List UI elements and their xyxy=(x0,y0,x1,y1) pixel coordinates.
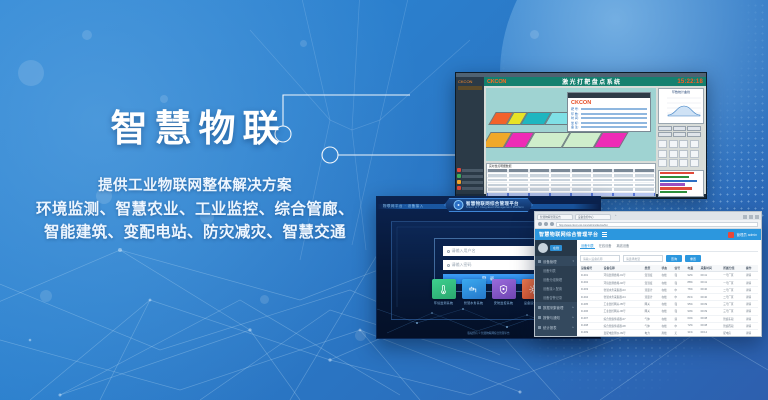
user-icon xyxy=(538,336,541,338)
cell-group: 三号厂区 xyxy=(722,308,745,315)
tool-icon[interactable] xyxy=(690,150,699,158)
monitor-logo: CKCON xyxy=(487,79,506,85)
cell-group: 管廊东段 xyxy=(722,315,745,322)
promotional-banner: 智慧物联 提供工业物联网整体解决方案 环境监测、智慧农业、工业监控、综合管廊、 … xyxy=(0,0,768,400)
table-row[interactable]: D-001 环境监测终端-01号 温湿度 在线 强 92% 09:41 一号厂区… xyxy=(580,272,758,279)
monitor-title: 激光打靶盘点系统 xyxy=(562,77,621,86)
hero-copy: 智慧物联 提供工业物联网整体解决方案 环境监测、智慧农业、工业监控、综合管廊、 … xyxy=(0,108,390,244)
module-tiles: 环境监测系统 智慧水务系统 xyxy=(432,279,546,305)
cell-action[interactable]: 详情 xyxy=(745,286,758,293)
sidebar-user-badge: 在线 xyxy=(550,245,562,251)
col-time: 采集时间 xyxy=(700,265,723,272)
popup-key: 坐 标: xyxy=(571,121,579,125)
cell-id: D-008 xyxy=(580,322,603,329)
cell-battery: 88% xyxy=(687,279,700,286)
log-line xyxy=(660,191,687,193)
popup-key: 时 间: xyxy=(571,116,579,120)
cell-time: 09:41 xyxy=(700,279,723,286)
bell-icon xyxy=(538,316,541,319)
cell-time: 09:39 xyxy=(700,308,723,315)
cell-id: D-007 xyxy=(580,315,603,322)
notification-icon[interactable] xyxy=(728,232,734,238)
cell-id: D-009 xyxy=(580,329,603,336)
user-icon xyxy=(447,250,450,253)
cell-group: 管廊西段 xyxy=(722,322,745,329)
filter-bar: 请输入设备名称 请选择类型 查询 重置 xyxy=(580,255,758,262)
cell-name: 综合管廊传感器-07 xyxy=(603,315,644,322)
sidebar-group-device[interactable]: 设备管理 ▾ xyxy=(535,256,577,266)
tool-icon[interactable] xyxy=(690,140,699,148)
browser-addressbar: http://www.ckcon-iot.com/admin/device/li… xyxy=(535,220,761,229)
shield-icon xyxy=(498,284,509,295)
cell-group: 配电房 xyxy=(722,329,745,336)
bokeh-dot xyxy=(530,30,539,39)
sidebar-group-label: 报警与通知 xyxy=(543,315,560,320)
username-field[interactable]: 请输入用户名 xyxy=(443,246,535,256)
table-row[interactable]: D-004 智慧水务采集器-04 流量计 在线 中 81% 09:40 二号厂区… xyxy=(580,293,758,300)
chevron-right-icon: ▸ xyxy=(572,315,574,319)
hero-subtitle-line-2: 环境监测、智慧农业、工业监控、综合管廊、 xyxy=(0,198,390,221)
cell-signal: 中 xyxy=(673,322,686,329)
icon-grid xyxy=(658,139,704,168)
cell-type: 网关 xyxy=(644,301,661,308)
popup-value xyxy=(581,126,647,128)
event-log xyxy=(658,170,704,197)
col-id: 设备编号 xyxy=(580,265,603,272)
chevron-down-icon: ▾ xyxy=(572,259,574,263)
cell-type: 温湿度 xyxy=(644,272,661,279)
monitor-sidebar-item[interactable] xyxy=(457,174,483,178)
monitor-sidebar: CKCON xyxy=(456,77,484,194)
search-button[interactable]: 查询 xyxy=(666,255,682,262)
cell-battery: 95% xyxy=(687,301,700,308)
cell-time: 09:12 xyxy=(700,329,723,336)
monitor-right-panel: 环数统计曲线 xyxy=(658,88,704,197)
tool-icon[interactable] xyxy=(679,140,688,148)
cell-status: 离线 xyxy=(660,329,673,336)
module-tile-water[interactable]: 智慧水务系统 xyxy=(462,279,486,305)
bokeh-dot xyxy=(260,295,269,304)
sidebar-group-label: 用户权限 xyxy=(543,335,557,338)
content-tabs: 设备列表 在线设备 离线设备 xyxy=(580,243,758,252)
kiosk-title-badge: 智慧物联网综合管理平台 Smart IoT Integrated Managem… xyxy=(444,198,533,212)
reset-button[interactable]: 重置 xyxy=(685,255,701,262)
cell-id: D-006 xyxy=(580,308,603,315)
cell-id: D-001 xyxy=(580,272,603,279)
monitor-sidebar-item[interactable] xyxy=(457,186,483,190)
app-sidebar: 在线 设备管理 ▾ 设备列表 设备分组管理 设备接入配置 设备告警记录 数据采集… xyxy=(535,240,577,337)
username-placeholder: 请输入用户名 xyxy=(452,248,476,254)
device-icon xyxy=(538,260,541,263)
lock-icon xyxy=(447,264,450,267)
sidebar-group-collection[interactable]: 数据采集管理 ▸ xyxy=(535,302,577,312)
chevron-right-icon: ▸ xyxy=(572,335,574,337)
table-row[interactable]: D-006 工业监控网关-06号 网关 在线 强 90% 09:39 三号厂区 … xyxy=(580,308,758,315)
monitor-sidebar-item[interactable] xyxy=(457,168,483,172)
col-group: 所属分组 xyxy=(722,265,745,272)
cell-id: D-005 xyxy=(580,301,603,308)
tool-icon[interactable] xyxy=(669,159,678,167)
popup-key: 环 数: xyxy=(571,112,579,116)
detail-popup: CKCON 靶 号: 环 数: 时 间: 坐 标: 备 注: xyxy=(567,92,651,132)
cell-battery: 72% xyxy=(687,322,700,329)
cell-group: 二号厂区 xyxy=(722,286,745,293)
cell-action[interactable]: 详情 xyxy=(745,272,758,279)
chevron-right-icon: ▸ xyxy=(572,305,574,309)
status-dot-icon xyxy=(457,186,461,190)
monitor-screenshot: CKCON xyxy=(455,72,707,199)
cell-action[interactable]: 详情 xyxy=(745,301,758,308)
sidebar-item-device-alarm[interactable]: 设备告警记录 xyxy=(535,293,577,302)
cell-action[interactable]: 详情 xyxy=(745,322,758,329)
cell-battery: 92% xyxy=(687,272,700,279)
status-dot-icon xyxy=(457,174,461,178)
tool-icon[interactable] xyxy=(658,159,667,167)
cell-type: 流量计 xyxy=(644,286,661,293)
col-battery: 电量 xyxy=(687,265,700,272)
cell-type: 电力 xyxy=(644,329,661,336)
bokeh-dot xyxy=(355,330,366,341)
monitor-data-table: 实时盘点明细数据 xyxy=(486,163,656,197)
cell-signal: 无 xyxy=(673,329,686,336)
cell-action[interactable]: 详情 xyxy=(745,315,758,322)
popup-row: 时 间: xyxy=(571,116,647,120)
cell-time: 09:41 xyxy=(700,272,723,279)
app-header: 智慧物联网综合管理平台 管理员 admin xyxy=(535,229,761,240)
cell-time: 09:39 xyxy=(700,301,723,308)
popup-key: 备 注: xyxy=(571,125,579,129)
statistics-chart: 环数统计曲线 xyxy=(658,88,704,124)
cell-battery: 90% xyxy=(687,308,700,315)
cell-status: 在线 xyxy=(660,293,673,300)
avatar xyxy=(538,243,548,253)
control-button[interactable] xyxy=(673,132,687,137)
col-action: 操作 xyxy=(745,265,758,272)
table-row[interactable]: D-003 智慧水务采集器-03 流量计 在线 中 76% 09:40 二号厂区… xyxy=(580,286,758,293)
bokeh-dot xyxy=(40,290,52,302)
control-button[interactable] xyxy=(673,126,687,131)
back-icon[interactable] xyxy=(538,222,542,226)
kiosk-badge-subtitle: Smart IoT Integrated Management Platform xyxy=(466,206,524,209)
module-tile-label: 安防监控系统 xyxy=(492,301,516,305)
cell-action[interactable]: 详情 xyxy=(745,329,758,336)
cell-name: 变配电监测仪-09号 xyxy=(603,329,644,336)
status-dot-icon xyxy=(457,180,461,184)
cell-status: 在线 xyxy=(660,272,673,279)
app-title: 智慧物联网综合管理平台 xyxy=(539,231,598,238)
cell-id: D-004 xyxy=(580,293,603,300)
cell-time: 09:40 xyxy=(700,293,723,300)
module-tile-label: 智慧水务系统 xyxy=(462,301,486,305)
cell-group: 一号厂区 xyxy=(722,279,745,286)
cell-name: 工业监控网关-05号 xyxy=(603,301,644,308)
cell-battery: 81% xyxy=(687,293,700,300)
cell-id: D-002 xyxy=(580,279,603,286)
search-input[interactable]: 请输入设备名称 xyxy=(580,255,620,262)
cell-status: 在线 xyxy=(660,301,673,308)
sidebar-item-device-list[interactable]: 设备列表 xyxy=(535,266,577,275)
hero-subtitle-line-1: 提供工业物联网整体解决方案 xyxy=(0,175,390,198)
log-line xyxy=(660,180,697,182)
cell-action[interactable]: 详情 xyxy=(745,293,758,300)
cell-signal: 弱 xyxy=(673,315,686,322)
col-signal: 信号 xyxy=(673,265,686,272)
sidebar-group-report[interactable]: 统计报表 ▸ xyxy=(535,322,577,332)
log-line xyxy=(660,172,694,174)
new-tab-button[interactable]: + xyxy=(613,214,620,220)
type-select[interactable]: 请选择类型 xyxy=(623,255,663,262)
tool-icon[interactable] xyxy=(679,150,688,158)
cell-time: 09:40 xyxy=(700,286,723,293)
tab-device-list[interactable]: 设备列表 xyxy=(580,243,595,249)
cell-status: 在线 xyxy=(660,279,673,286)
maximize-icon[interactable] xyxy=(749,215,753,219)
monitor-sidebar-tag xyxy=(458,86,482,90)
popup-value xyxy=(581,122,647,124)
col-type: 类型 xyxy=(644,265,661,272)
cell-signal: 强 xyxy=(673,301,686,308)
table-header-row: 设备编号 设备名称 类型 状态 信号 电量 采集时间 所属分组 操作 xyxy=(580,265,758,272)
gear-icon xyxy=(453,200,463,210)
browser-tab[interactable]: 智慧物联管理后台 xyxy=(537,214,573,220)
close-icon[interactable] xyxy=(755,215,759,219)
password-field[interactable]: 请输入密码 xyxy=(443,260,535,270)
cell-id: D-003 xyxy=(580,286,603,293)
cell-signal: 强 xyxy=(673,272,686,279)
module-tile-environment[interactable]: 环境监测系统 xyxy=(432,279,456,305)
monitor-clock: 15:22:18 xyxy=(677,79,703,85)
status-dot-icon xyxy=(457,168,461,172)
app-main-content: 设备列表 在线设备 离线设备 请输入设备名称 请选择类型 查询 重置 设备编号 … xyxy=(577,240,761,337)
forward-icon[interactable] xyxy=(544,222,548,226)
module-tile-label: 环境监测系统 xyxy=(432,301,456,305)
url-input[interactable]: http://www.ckcon-iot.com/admin/device/li… xyxy=(556,222,758,227)
tool-icon[interactable] xyxy=(690,159,699,167)
cell-name: 环境监测终端-02号 xyxy=(603,279,644,286)
thermometer-icon xyxy=(438,284,449,295)
cell-type: 气体 xyxy=(644,315,661,322)
sidebar-group-permission[interactable]: 用户权限 ▸ xyxy=(535,332,577,337)
tab-offline-devices[interactable]: 离线设备 xyxy=(616,243,631,249)
control-button[interactable] xyxy=(658,132,672,137)
cell-signal: 强 xyxy=(673,308,686,315)
kiosk-left-tab: 物联网平台 · 设备接入 xyxy=(383,203,424,208)
database-icon xyxy=(538,306,541,309)
cell-status: 在线 xyxy=(660,308,673,315)
log-line xyxy=(660,183,685,185)
popup-row: 备 注: xyxy=(571,125,647,129)
water-tap-icon xyxy=(468,284,479,295)
chevron-right-icon: ▸ xyxy=(572,325,574,329)
chart-icon xyxy=(538,326,541,329)
cell-action[interactable]: 详情 xyxy=(745,279,758,286)
device-table: 设备编号 设备名称 类型 状态 信号 电量 采集时间 所属分组 操作 xyxy=(580,265,758,337)
app-user-label[interactable]: 管理员 admin xyxy=(737,232,757,237)
monitor-sidebar-item[interactable] xyxy=(457,180,483,184)
page-title: 智慧物联 xyxy=(0,108,390,151)
popup-logo: CKCON xyxy=(571,100,650,106)
table-row[interactable]: D-008 综合管廊传感器-08 气体 在线 中 72% 09:38 管廊西段 … xyxy=(580,322,758,329)
password-placeholder: 请输入密码 xyxy=(452,262,472,268)
sidebar-group-label: 设备管理 xyxy=(543,259,557,264)
chart-svg xyxy=(659,94,703,120)
hero-subtitle: 提供工业物联网整体解决方案 环境监测、智慧农业、工业监控、综合管廊、 智能建筑、… xyxy=(0,175,390,244)
cell-battery: 31% xyxy=(687,329,700,336)
window-controls xyxy=(743,215,759,220)
table-row[interactable]: D-002 环境监测终端-02号 温湿度 在线 强 88% 09:41 一号厂区… xyxy=(580,279,758,286)
col-name: 设备名称 xyxy=(603,265,644,272)
cell-battery: 76% xyxy=(687,286,700,293)
reload-icon[interactable] xyxy=(550,222,554,226)
menu-toggle-icon[interactable] xyxy=(602,232,607,237)
tool-icon[interactable] xyxy=(669,140,678,148)
cell-time: 09:38 xyxy=(700,322,723,329)
browser-tab[interactable]: 设备监控中心 xyxy=(575,214,611,220)
hero-subtitle-line-3: 智能建筑、变配电站、防灾减灾、智慧交通 xyxy=(0,221,390,244)
sidebar-group-label: 数据采集管理 xyxy=(543,305,563,310)
cell-battery: 64% xyxy=(687,315,700,322)
cell-group: 二号厂区 xyxy=(722,293,745,300)
minimize-icon[interactable] xyxy=(743,215,747,219)
cell-type: 温湿度 xyxy=(644,279,661,286)
control-button[interactable] xyxy=(687,132,701,137)
popup-value xyxy=(581,113,647,115)
monitor-sidebar-list xyxy=(457,168,483,192)
table-row[interactable]: D-009 变配电监测仪-09号 电力 离线 无 31% 09:12 配电房 详… xyxy=(580,329,758,336)
browser-screenshot: 智慧物联管理后台 设备监控中心 + http://www.ckcon-iot.c… xyxy=(534,211,762,337)
cell-group: 三号厂区 xyxy=(722,301,745,308)
table-row[interactable]: D-007 综合管廊传感器-07 气体 在线 弱 64% 09:38 管廊东段 … xyxy=(580,315,758,322)
cell-name: 智慧水务采集器-04 xyxy=(603,293,644,300)
log-line xyxy=(660,176,689,178)
tool-icon[interactable] xyxy=(679,159,688,167)
target-canvas: CKCON 靶 号: 环 数: 时 间: 坐 标: 备 注: xyxy=(486,88,656,161)
sidebar-item-device-config[interactable]: 设备接入配置 xyxy=(535,284,577,293)
sidebar-group-alarm[interactable]: 报警与通知 ▸ xyxy=(535,312,577,322)
cell-type: 气体 xyxy=(644,322,661,329)
sidebar-group-label: 统计报表 xyxy=(543,325,557,330)
cell-name: 综合管廊传感器-08 xyxy=(603,322,644,329)
control-button[interactable] xyxy=(658,126,672,131)
cell-type: 流量计 xyxy=(644,293,661,300)
sidebar-user[interactable]: 在线 xyxy=(535,240,577,256)
popup-value xyxy=(581,117,647,119)
cell-signal: 中 xyxy=(673,293,686,300)
popup-key: 靶 号: xyxy=(571,107,579,111)
tool-icon[interactable] xyxy=(669,150,678,158)
table-row[interactable]: D-005 工业监控网关-05号 网关 在线 强 95% 09:39 三号厂区 … xyxy=(580,301,758,308)
tab-online-devices[interactable]: 在线设备 xyxy=(598,243,613,249)
cell-status: 在线 xyxy=(660,315,673,322)
monitor-header: CKCON 激光打靶盘点系统 15:22:18 xyxy=(484,77,706,86)
cell-name: 环境监测终端-01号 xyxy=(603,272,644,279)
cell-signal: 中 xyxy=(673,286,686,293)
cell-signal: 强 xyxy=(673,279,686,286)
control-button[interactable] xyxy=(687,126,701,131)
popup-titlebar xyxy=(568,93,650,98)
module-tile-security[interactable]: 安防监控系统 xyxy=(492,279,516,305)
control-buttons xyxy=(658,126,704,137)
browser-tabstrip: 智慧物联管理后台 设备监控中心 + xyxy=(535,212,761,220)
cell-name: 工业监控网关-06号 xyxy=(603,308,644,315)
cell-type: 网关 xyxy=(644,308,661,315)
cell-status: 在线 xyxy=(660,322,673,329)
cell-time: 09:38 xyxy=(700,315,723,322)
popup-value xyxy=(581,108,647,110)
log-line xyxy=(660,187,692,189)
cell-status: 在线 xyxy=(660,286,673,293)
monitor-sidebar-brand: CKCON xyxy=(456,77,484,84)
cell-action[interactable]: 详情 xyxy=(745,308,758,315)
popup-row: 环 数: xyxy=(571,112,647,116)
cell-group: 一号厂区 xyxy=(722,272,745,279)
cell-name: 智慧水务采集器-03 xyxy=(603,286,644,293)
popup-row: 靶 号: xyxy=(571,107,647,111)
sidebar-item-device-group[interactable]: 设备分组管理 xyxy=(535,275,577,284)
popup-row: 坐 标: xyxy=(571,121,647,125)
tool-icon[interactable] xyxy=(658,140,667,148)
tool-icon[interactable] xyxy=(658,150,667,158)
col-status: 状态 xyxy=(660,265,673,272)
